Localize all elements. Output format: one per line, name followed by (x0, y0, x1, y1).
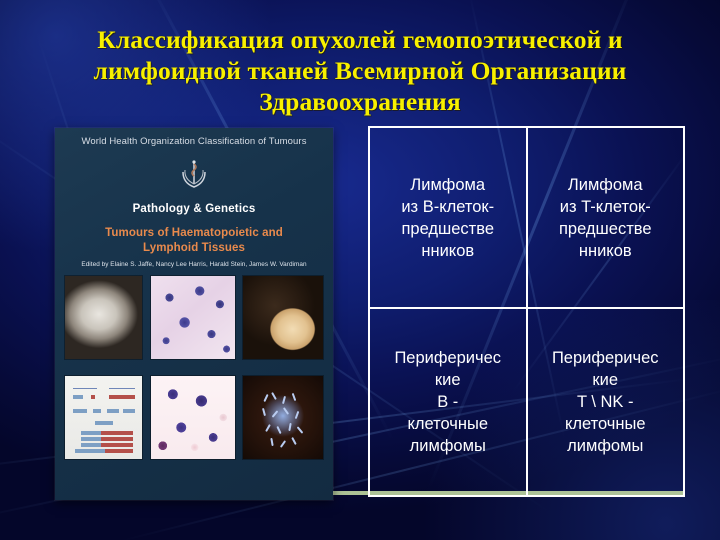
cell-line: B - (394, 391, 501, 413)
photo-histology-section (151, 276, 235, 359)
cell-line: T \ NK - (552, 391, 659, 413)
classification-table: Лимфома из B-клеток- предшестве нников Л… (368, 126, 685, 497)
photo-skull-radiograph (65, 276, 142, 359)
cell-line: нников (401, 240, 494, 262)
cell-line: из B-клеток- (401, 196, 494, 218)
table-cell-peripheral-t-nk: Периферичес кие T \ NK - клеточные лимфо… (526, 309, 684, 495)
cell-line: клеточные (552, 413, 659, 435)
book-photo-row-2 (65, 376, 323, 459)
book-main-title-line2: Lymphoid Tissues (55, 241, 333, 256)
book-main-title: Tumours of Haematopoietic and Lymphoid T… (55, 226, 333, 256)
book-cover-image: World Health Organization Classification… (55, 128, 333, 500)
table-cell-peripheral-b: Периферичес кие B - клеточные лимфомы (370, 309, 526, 495)
presentation-slide: Классификация опухолей гемопоэтической и… (0, 0, 720, 540)
cell-line: нников (559, 240, 652, 262)
cell-line: из T-клеток- (559, 196, 652, 218)
table-row: Периферичес кие B - клеточные лимфомы Пе… (370, 307, 683, 495)
cell-line: кие (394, 369, 501, 391)
photo-peripheral-blood-smear (151, 376, 235, 459)
cell-line: предшестве (559, 218, 652, 240)
cell-line: предшестве (401, 218, 494, 240)
book-series-line: World Health Organization Classification… (55, 136, 333, 147)
book-main-title-line1: Tumours of Haematopoietic and (55, 226, 333, 241)
cell-line: Лимфома (401, 174, 494, 196)
cell-line: кие (552, 369, 659, 391)
cell-line: лимфомы (394, 435, 501, 457)
table-cell-precursor-b: Лимфома из B-клеток- предшестве нников (370, 128, 526, 307)
table-cell-precursor-t: Лимфома из T-клеток- предшестве нников (526, 128, 684, 307)
book-editors: Edited by Elaine S. Jaffe, Nancy Lee Har… (55, 261, 333, 268)
cell-line: лимфомы (552, 435, 659, 457)
cell-line: клеточные (394, 413, 501, 435)
table-row: Лимфома из B-клеток- предшестве нников Л… (370, 128, 683, 307)
photo-spleen-gross-specimen (243, 276, 323, 359)
book-photo-row-1 (65, 276, 323, 359)
page-title: Классификация опухолей гемопоэтической и… (36, 24, 684, 117)
cell-line: Периферичес (394, 347, 501, 369)
cell-line: Лимфома (559, 174, 652, 196)
book-subtitle: Pathology & Genetics (55, 203, 333, 215)
photo-gene-expression-chart (65, 376, 142, 459)
cell-line: Периферичес (552, 347, 659, 369)
photo-karyotype-spread (243, 376, 323, 459)
who-emblem-icon (177, 158, 211, 192)
